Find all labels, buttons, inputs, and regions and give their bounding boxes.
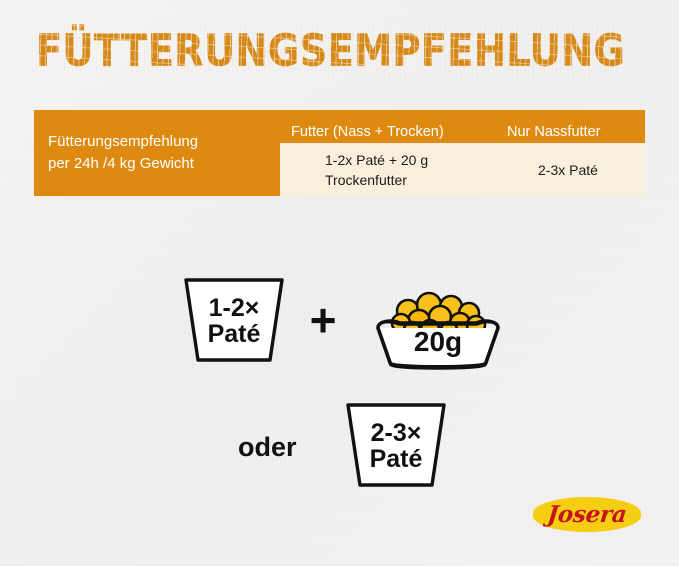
column-header-mixed-food: Futter (Nass + Trocken) bbox=[291, 124, 444, 140]
table-cell-mixed-food: 1-2x Paté + 20 g Trockenfutter bbox=[325, 143, 515, 196]
table-cell-mixed-food-line2: Trockenfutter bbox=[325, 170, 515, 190]
table-values-panel: 1-2x Paté + 20 g Trockenfutter 2-3x Paté bbox=[280, 143, 645, 196]
logo-wordmark: Josera bbox=[531, 497, 643, 532]
illustration-area: 1-2× Paté + bbox=[0, 250, 679, 500]
infographic-page: FÜTTERUNGSEMPFEHLUNG Fütterungsempfehlun… bbox=[0, 0, 679, 566]
table-cell-wet-food: 2-3x Paté bbox=[538, 143, 658, 196]
pate-cup-icon-2: 2-3× Paté bbox=[344, 398, 448, 492]
feeding-recommendation-table: Fütterungsempfehlung per 24h /4 kg Gewic… bbox=[34, 110, 645, 196]
or-label: oder bbox=[238, 432, 297, 463]
column-header-wet-food: Nur Nassfutter bbox=[507, 124, 600, 140]
pate-cup-icon: 1-2× Paté bbox=[182, 273, 286, 367]
table-row-label: Fütterungsempfehlung per 24h /4 kg Gewic… bbox=[48, 110, 278, 196]
table-cell-mixed-food-line1: 1-2x Paté + 20 g bbox=[325, 150, 515, 170]
table-row-label-line2: per 24h /4 kg Gewicht bbox=[48, 153, 278, 175]
table-row-label-line1: Fütterungsempfehlung bbox=[48, 131, 278, 153]
josera-logo: Josera bbox=[533, 497, 641, 532]
table-cell-wet-food-line1: 2-3x Paté bbox=[538, 160, 658, 180]
plus-icon: + bbox=[305, 302, 341, 338]
food-bowl-icon: 20g bbox=[372, 273, 504, 371]
page-title: FÜTTERUNGSEMPFEHLUNG bbox=[36, 25, 625, 76]
